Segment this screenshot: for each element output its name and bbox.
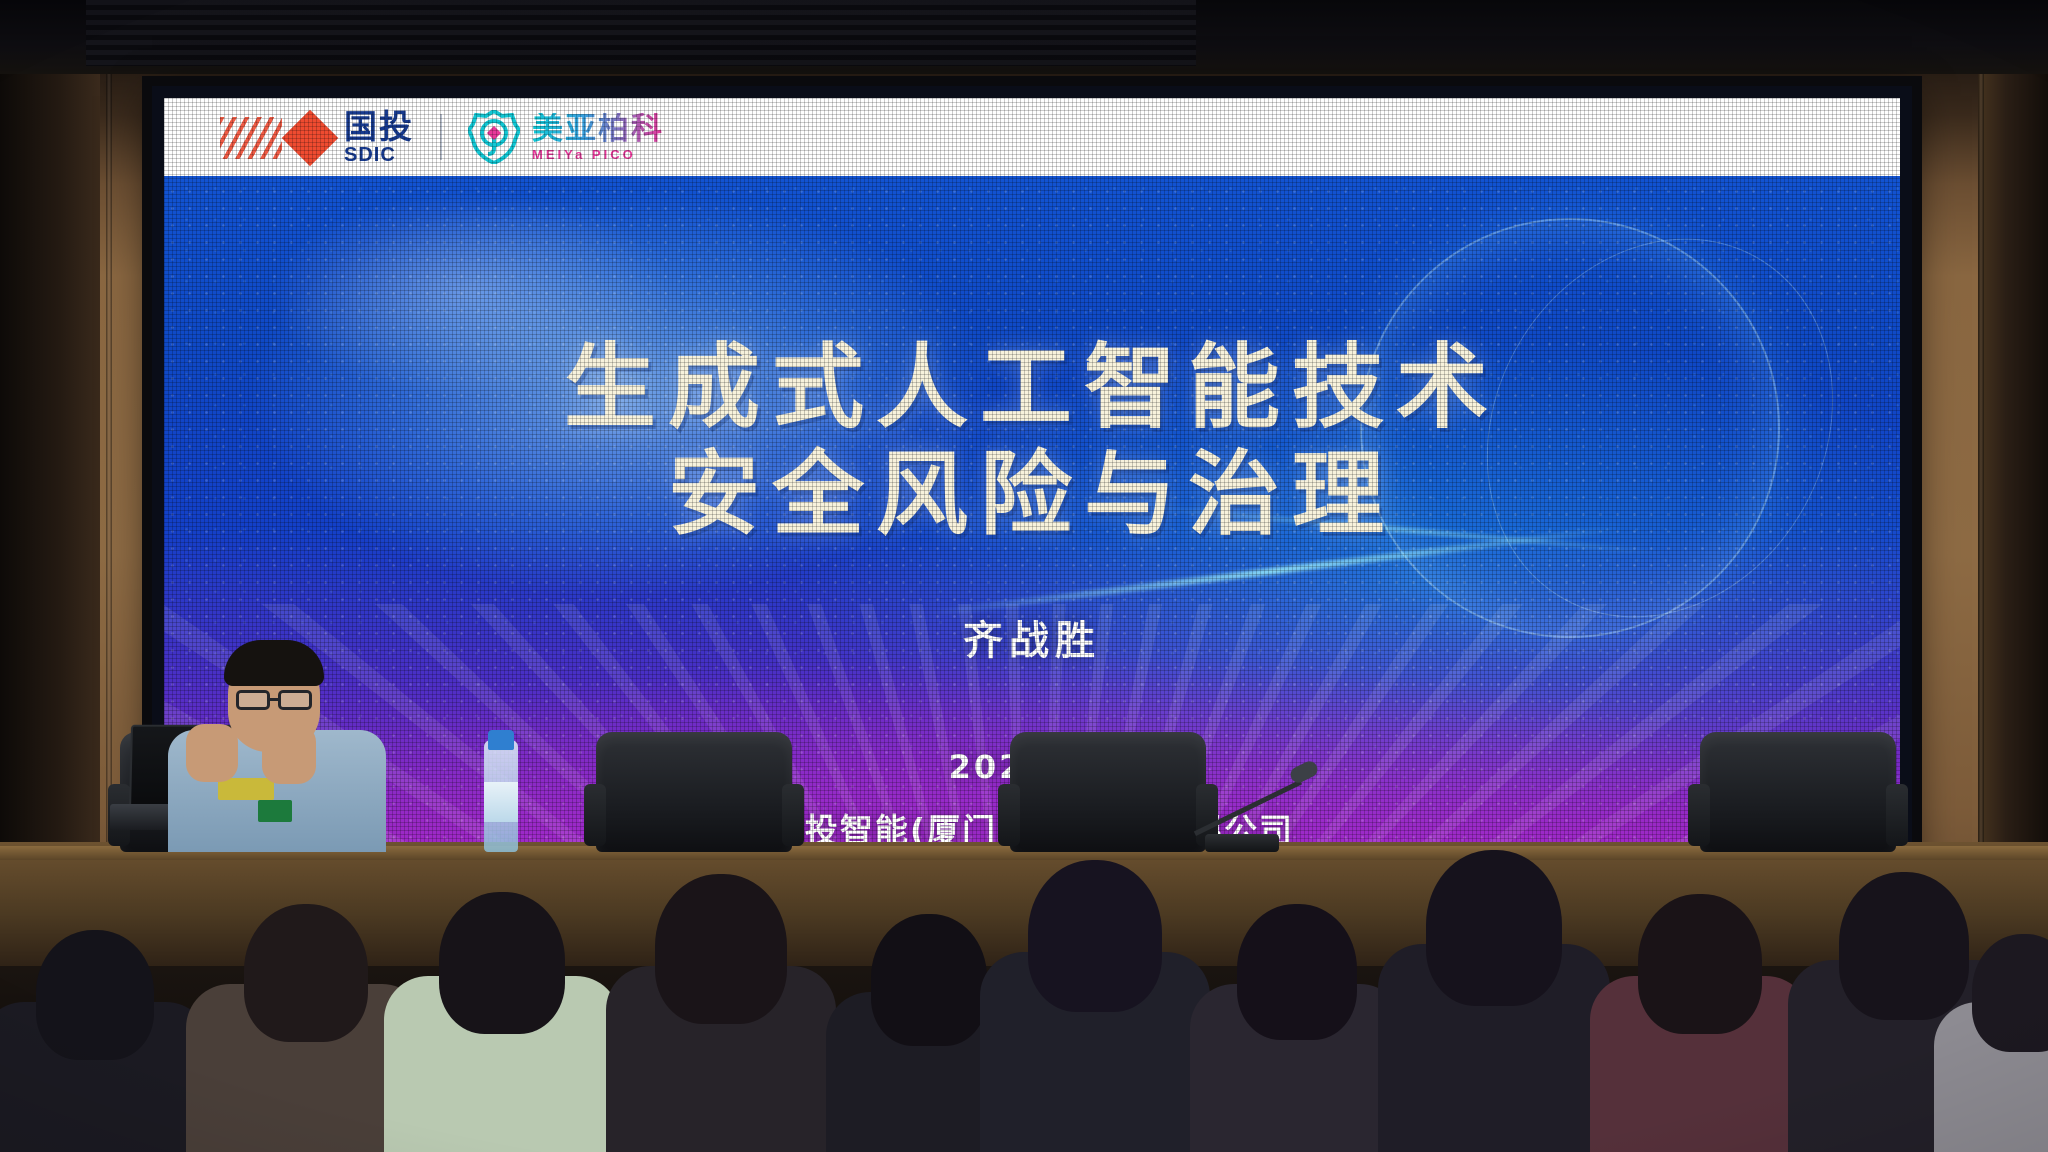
logo-divider <box>440 114 442 160</box>
audience-person <box>1190 906 1404 1152</box>
meiya-logo-en: MEIYa PICO <box>532 148 664 161</box>
slide-logo-bar: 国投 SDIC 美亚柏科 <box>164 98 1900 176</box>
slide-speaker-name: 齐战胜 <box>164 608 1900 666</box>
audience-person <box>1590 900 1810 1152</box>
presenter-hand <box>262 724 316 784</box>
eyeglasses-bridge <box>270 698 280 701</box>
audience-person <box>606 884 836 1152</box>
meiya-pico-logo: 美亚柏科 MEIYa PICO <box>468 110 664 164</box>
slide-title: 生成式人工智能技术 安全风险与治理 <box>164 336 1900 546</box>
slide-title-line-2: 安全风险与治理 <box>164 443 1900 546</box>
water-bottle-cap <box>488 730 514 750</box>
eyeglasses-icon <box>278 690 312 710</box>
meiya-logo-cn: 美亚柏科 <box>532 113 664 144</box>
audience-person <box>384 902 620 1152</box>
slide-title-line-1: 生成式人工智能技术 <box>164 336 1900 439</box>
water-bottle-label <box>484 782 518 822</box>
ceiling-speaker-grill <box>86 0 1196 66</box>
sdic-logo-en: SDIC <box>344 145 414 165</box>
sdic-logo: 国投 SDIC <box>220 110 414 165</box>
audience-row <box>0 822 2048 1152</box>
audience-person <box>980 864 1210 1152</box>
presenter-badge <box>258 800 292 822</box>
audience-person <box>0 972 210 1152</box>
presentation-photo-scene: 国投 SDIC 美亚柏科 <box>0 0 2048 1152</box>
presenter-hand <box>186 724 238 782</box>
audience-person <box>1378 852 1610 1152</box>
laptop-sticker <box>218 778 274 800</box>
sdic-logo-cn: 国投 <box>344 110 414 143</box>
shield-icon <box>468 110 520 164</box>
eyeglasses-icon <box>236 690 270 710</box>
sdic-diamond-icon <box>220 112 332 162</box>
presenter-hair <box>224 640 324 686</box>
